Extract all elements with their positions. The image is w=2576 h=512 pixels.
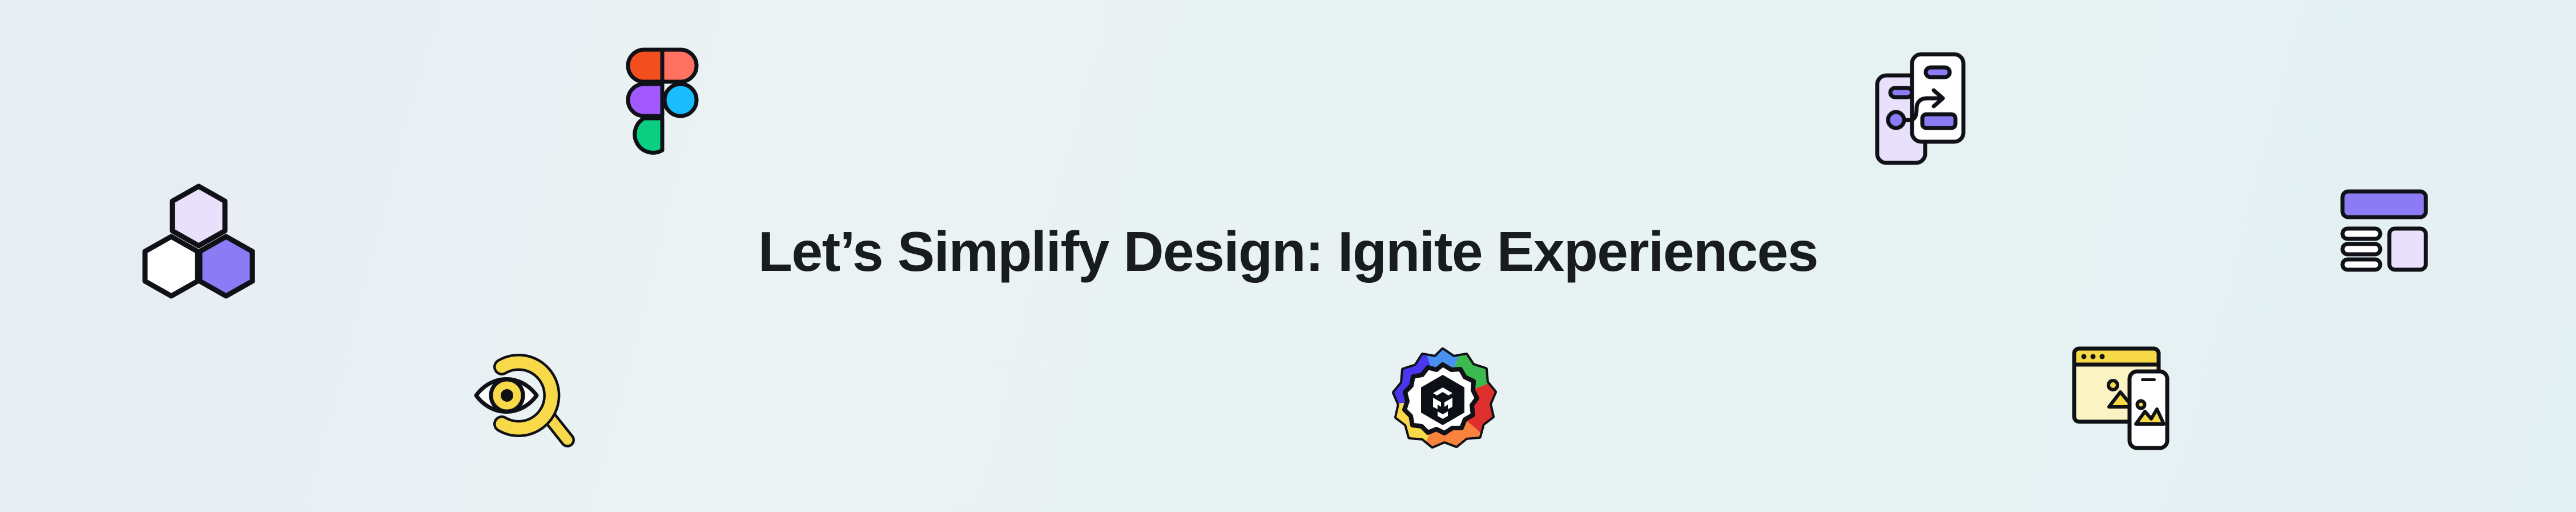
figma-logo-icon	[627, 47, 698, 159]
phone-flow-icon	[1874, 51, 1985, 166]
page-title: Let’s Simplify Design: Ignite Experience…	[758, 223, 1818, 279]
cube-badge-icon	[1390, 347, 1496, 454]
heading-container: Let’s Simplify Design: Ignite Experience…	[0, 0, 2576, 512]
hexagon-cluster-icon	[130, 182, 267, 302]
eye-magnifier-icon	[469, 350, 585, 453]
responsive-preview-icon	[2071, 344, 2182, 453]
wireframe-layout-icon	[2340, 189, 2446, 274]
hero-banner: Let’s Simplify Design: Ignite Experience…	[0, 0, 2576, 512]
